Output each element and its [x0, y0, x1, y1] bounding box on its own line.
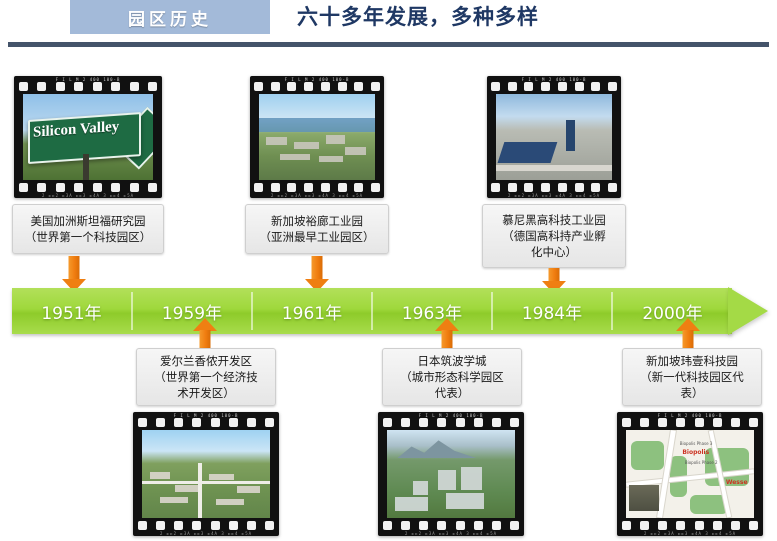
connector-arrow-1963 — [435, 318, 459, 348]
photo-frame — [496, 94, 612, 180]
caption-munich: 慕尼黑高科技工业园 （德国高科持产业孵 化中心） — [482, 204, 626, 268]
film-edge-text-bottom: 2 ►►2 ►3A ►►3 ►4A 3 ►►4 ►5A — [378, 530, 524, 536]
shannon-free-zone-aerial-photo — [142, 430, 270, 518]
caption-silicon-valley: 美国加洲斯坦福研究园 （世界第一个科技园区） — [12, 204, 164, 254]
timeline-year-2000[interactable]: 2000年 — [613, 288, 732, 334]
caption-line-3: 术开发区） — [177, 385, 235, 401]
photo-frame — [142, 430, 270, 518]
film-strip-silicon-valley: F I L M 2 400 100-B Silicon Valley 2 ►►2… — [14, 76, 162, 198]
film-sprockets-top — [250, 81, 384, 92]
connector-arrow-1959 — [193, 318, 217, 348]
caption-shannon: 爱尔兰香侬开发区 （世界第一个经济技 术开发区） — [136, 348, 276, 406]
caption-one-north: 新加坡玮壹科技园 （新一代科技园区代 表） — [622, 348, 762, 406]
film-sprockets-top — [378, 417, 524, 428]
caption-line-2: （德国高科持产业孵 — [502, 228, 606, 244]
tsukuba-science-city-aerial-photo — [387, 430, 515, 518]
film-edge-text-bottom: 2 ►►2 ►3A ►►3 ►4A 3 ►►4 ►5A — [133, 530, 279, 536]
timeline-year-1961[interactable]: 1961年 — [253, 288, 371, 334]
page-title: 六十多年发展，多种多样 — [297, 2, 539, 32]
film-edge-text-bottom: 2 ►►2 ►3A ►►3 ►4A 3 ►►4 ►5A — [617, 530, 763, 536]
photo-frame: Biopolis Biopolis Phase 3 Biopolis Phase… — [626, 430, 754, 518]
timeline-year-1959[interactable]: 1959年 — [133, 288, 251, 334]
silicon-valley-road-sign-photo: Silicon Valley — [23, 94, 153, 180]
connector-arrow-1951 — [62, 256, 86, 292]
photo-frame: Silicon Valley — [23, 94, 153, 180]
film-strip-munich: F I L M 2 400 100-B 2 ►►2 ►3A ►►3 ►4A 3 … — [487, 76, 621, 198]
caption-line-2: （新一代科技园区代 — [640, 369, 744, 385]
caption-line-1: 日本筑波学城 — [418, 353, 487, 369]
caption-line-1: 美国加洲斯坦福研究园 — [31, 213, 146, 229]
caption-tsukuba: 日本筑波学城 （城市形态科学园区 代表） — [382, 348, 522, 406]
timeline: 1951年 1959年 1961年 1963年 1984年 2000年 — [12, 288, 767, 334]
timeline-year-1963[interactable]: 1963年 — [373, 288, 491, 334]
film-sprockets-top — [617, 417, 763, 428]
timeline-year-1984[interactable]: 1984年 — [493, 288, 611, 334]
film-strip-tsukuba: F I L M 2 400 100-B 2 ►►2 ►3A ►►3 ►4A 3 … — [378, 412, 524, 536]
header-band: 园区历史 — [70, 0, 270, 34]
film-edge-text-bottom: 2 ►►2 ►3A ►►3 ►4A 3 ►►4 ►5A — [487, 192, 621, 198]
connector-arrow-1961 — [305, 256, 329, 292]
jurong-industrial-park-aerial-photo — [259, 94, 375, 180]
map-label-biopolis: Biopolis — [682, 449, 709, 456]
film-sprockets-top — [14, 81, 162, 92]
caption-line-3: 化中心） — [531, 244, 577, 260]
film-sprockets-top — [133, 417, 279, 428]
caption-line-1: 慕尼黑高科技工业园 — [502, 212, 606, 228]
film-strip-jurong: F I L M 2 400 100-B 2 ►►2 ►3A ►►3 ►4A 3 … — [250, 76, 384, 198]
header-band-label: 园区历史 — [70, 0, 270, 34]
page-header: 园区历史 六十多年发展，多种多样 — [0, 0, 777, 48]
caption-line-2: （亚洲最早工业园区） — [260, 229, 375, 245]
photo-frame — [387, 430, 515, 518]
caption-line-2: （世界第一个经济技 — [154, 369, 258, 385]
caption-line-2: （世界第一个科技园区） — [25, 229, 152, 245]
caption-line-3: 代表） — [435, 385, 470, 401]
photo-frame — [259, 94, 375, 180]
caption-line-1: 爱尔兰香侬开发区 — [160, 353, 252, 369]
film-strip-shannon: F I L M 2 400 100-B 2 ►►2 ►3A ►►3 ►4A 3 … — [133, 412, 279, 536]
caption-line-1: 新加坡裕廊工业园 — [271, 213, 363, 229]
munich-high-tech-park-aerial-photo — [496, 94, 612, 180]
header-divider — [8, 42, 769, 47]
caption-line-2: （城市形态科学园区 — [400, 369, 504, 385]
film-edge-text-bottom: 2 ►►2 ►3A ►►3 ►4A 3 ►►4 ►5A — [14, 192, 162, 198]
caption-jurong: 新加坡裕廊工业园 （亚洲最早工业园区） — [245, 204, 389, 254]
film-sprockets-top — [487, 81, 621, 92]
film-edge-text-bottom: 2 ►►2 ►3A ►►3 ►4A 3 ►►4 ►5A — [250, 192, 384, 198]
connector-arrow-2000 — [676, 318, 700, 348]
film-strip-one-north: F I L M 2 400 100-B Biopolis Biopolis Ph… — [617, 412, 763, 536]
timeline-year-1951[interactable]: 1951年 — [12, 288, 131, 334]
caption-line-3: 表） — [681, 385, 704, 401]
caption-line-1: 新加坡玮壹科技园 — [646, 353, 738, 369]
timeline-arrowhead — [728, 287, 768, 335]
one-north-biopolis-map: Biopolis Biopolis Phase 3 Biopolis Phase… — [626, 430, 754, 518]
